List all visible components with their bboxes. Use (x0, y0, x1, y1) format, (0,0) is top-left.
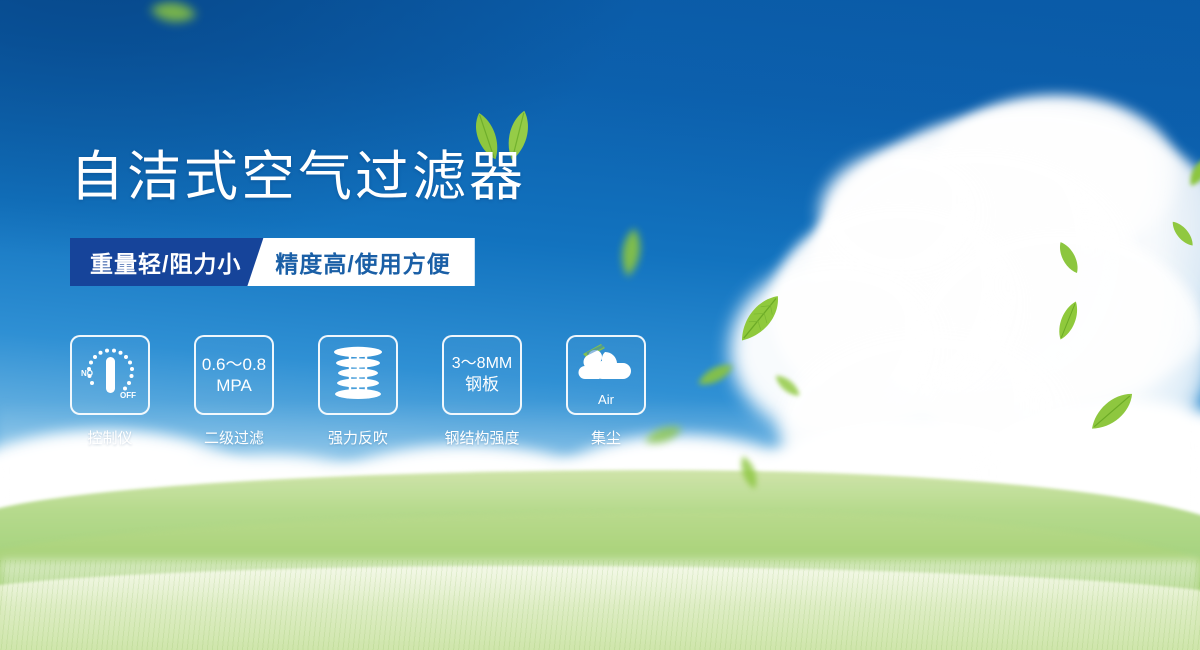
grass-texture (0, 560, 1200, 650)
cloud-air-icon (575, 344, 637, 391)
feature-item-steel[interactable]: 3～8MM 钢板 钢结构强度 (442, 335, 522, 448)
feature-list: NO OFF 控制仪 0.6～0.8 MPA 二级过滤 (70, 335, 646, 448)
feature-item-controller[interactable]: NO OFF 控制仪 (70, 335, 150, 448)
steel-thickness-text: 3～8MM (452, 354, 512, 374)
svg-text:NO: NO (81, 369, 93, 378)
feature-icon-box (318, 335, 398, 415)
pressure-unit-text: MPA (216, 375, 252, 396)
steel-plate-text: 钢板 (465, 374, 499, 395)
feature-icon-box: NO OFF (70, 335, 150, 415)
feature-label: 二级过滤 (204, 427, 264, 448)
filter-coil-icon (330, 344, 386, 407)
air-text: Air (598, 392, 614, 407)
feature-label: 集尘 (591, 427, 621, 448)
feature-icon-box: Air (566, 335, 646, 415)
feature-label: 控制仪 (87, 427, 132, 448)
subtitle-primary: 重量轻/阻力小 (70, 238, 263, 286)
feature-label: 强力反吹 (328, 427, 388, 448)
page-title: 自洁式空气过滤器 (70, 146, 526, 210)
subtitle-bar: 重量轻/阻力小 精度高/使用方便 (70, 238, 475, 286)
subtitle-secondary: 精度高/使用方便 (247, 238, 474, 286)
feature-item-filtration[interactable]: 0.6～0.8 MPA 二级过滤 (194, 335, 274, 448)
feature-icon-box: 0.6～0.8 MPA (194, 335, 274, 415)
product-banner: 自洁式空气过滤器 重量轻/阻力小 精度高/使用方便 (0, 0, 1200, 650)
svg-text:OFF: OFF (120, 391, 136, 400)
feature-item-dust[interactable]: Air 集尘 (566, 335, 646, 448)
pressure-text-icon: 0.6～0.8 (202, 354, 266, 375)
gauge-icon: NO OFF (79, 343, 141, 408)
feature-label: 钢结构强度 (444, 427, 519, 448)
feature-item-backblow[interactable]: 强力反吹 (318, 335, 398, 448)
feature-icon-box: 3～8MM 钢板 (442, 335, 522, 415)
